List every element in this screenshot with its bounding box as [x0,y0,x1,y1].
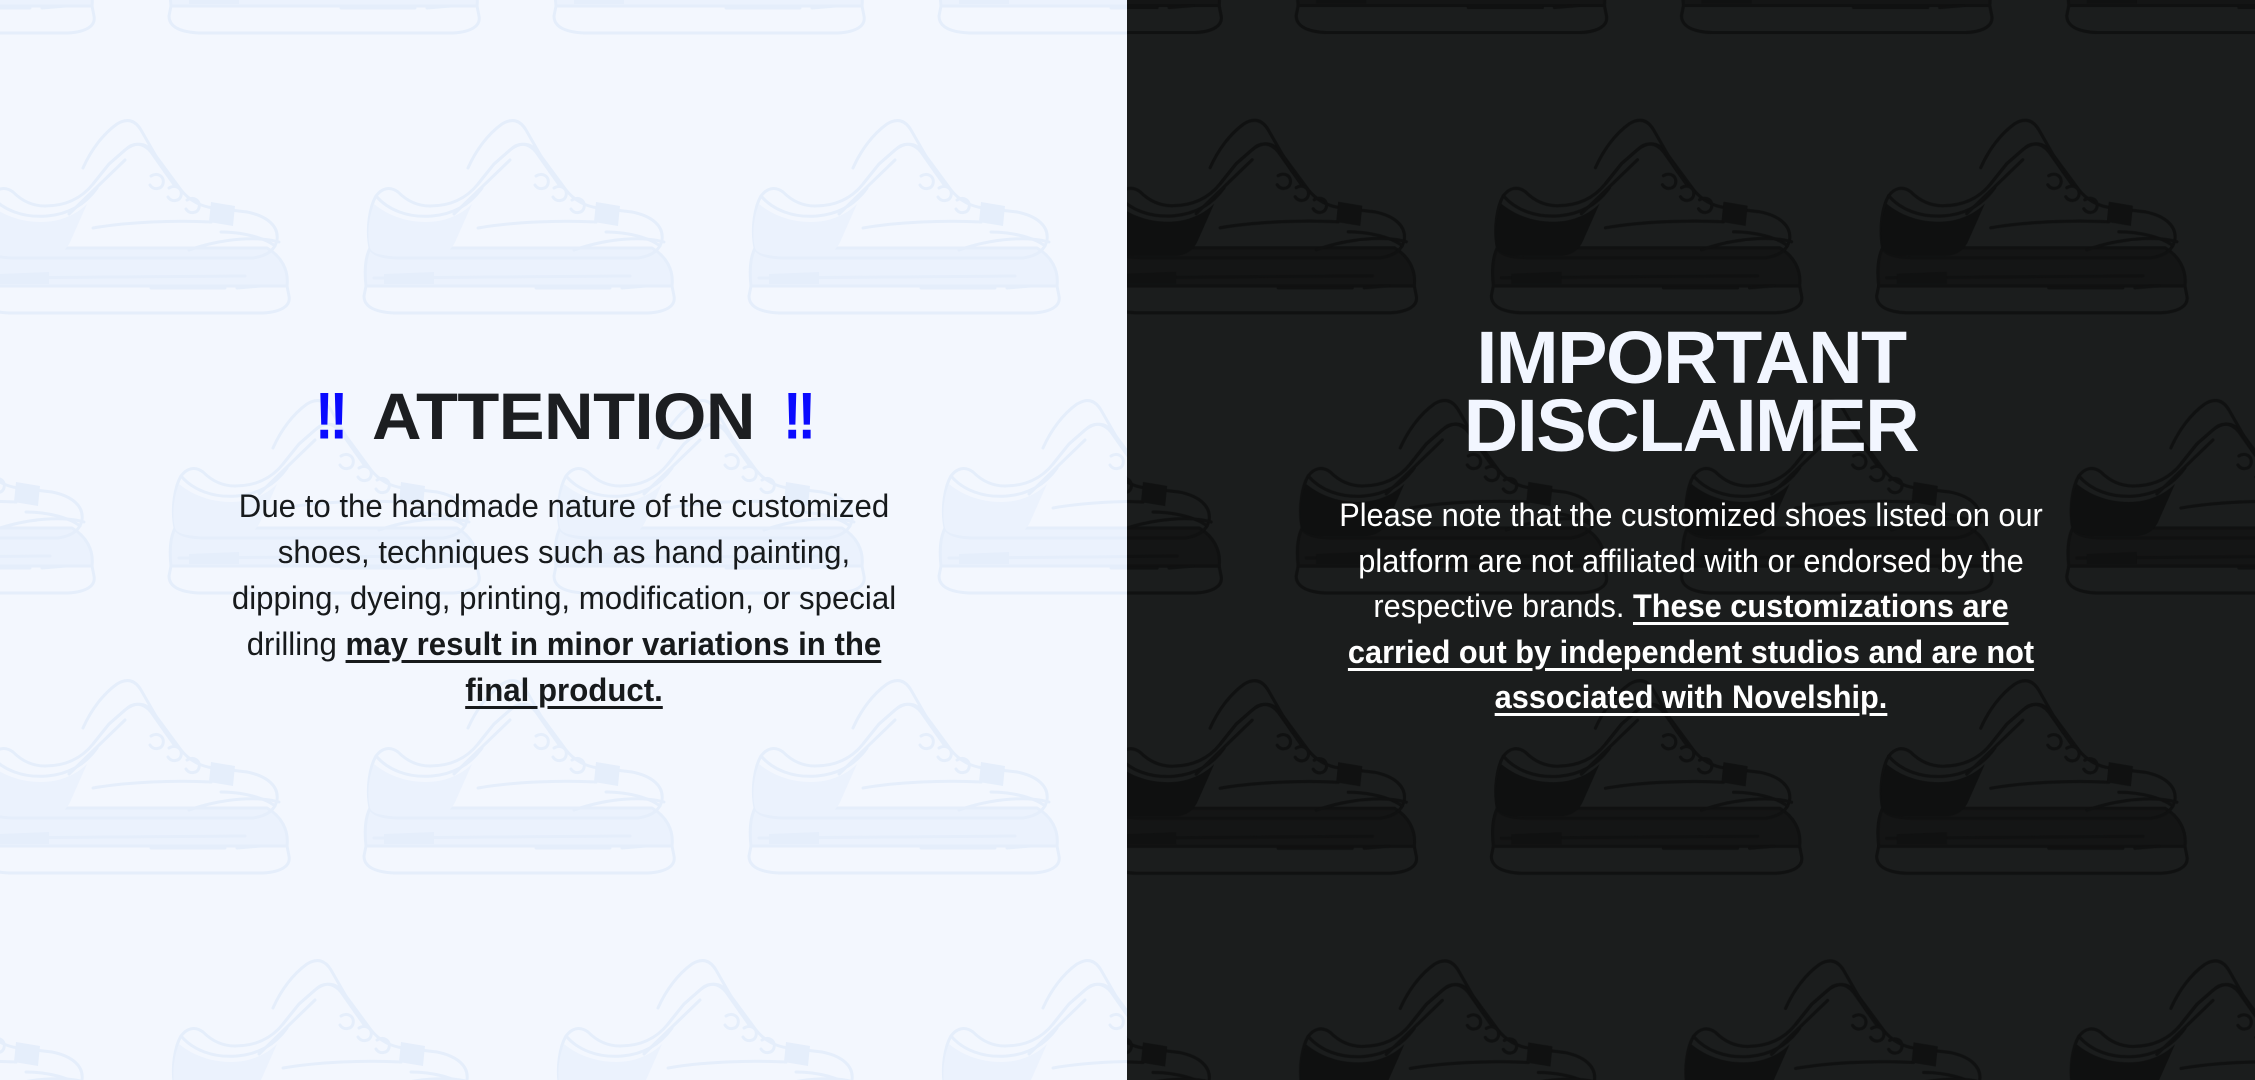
attention-title: !! ATTENTION !! [19,383,1108,449]
disclaimer-content: IMPORTANT DISCLAIMER Please note that th… [1127,324,2255,721]
disclaimer-panel: IMPORTANT DISCLAIMER Please note that th… [1127,0,2255,1080]
attention-body: Due to the handmade nature of the custom… [228,483,900,714]
attention-body-emphasis: may result in minor variations in the fi… [345,626,881,708]
double-exclamation-icon-left: !! [315,383,344,449]
promo-banner: !! ATTENTION !! Due to the handmade natu… [0,0,2255,1080]
attention-title-text: ATTENTION [372,383,755,449]
disclaimer-title: IMPORTANT DISCLAIMER [1157,324,2226,462]
double-exclamation-icon-right: !! [783,383,812,449]
attention-panel: !! ATTENTION !! Due to the handmade natu… [0,0,1127,1080]
disclaimer-title-line-2: DISCLAIMER [1157,392,2226,461]
disclaimer-title-line-1: IMPORTANT [1157,324,2226,393]
disclaimer-body: Please note that the customized shoes li… [1326,493,2056,720]
attention-content: !! ATTENTION !! Due to the handmade natu… [0,383,1127,714]
